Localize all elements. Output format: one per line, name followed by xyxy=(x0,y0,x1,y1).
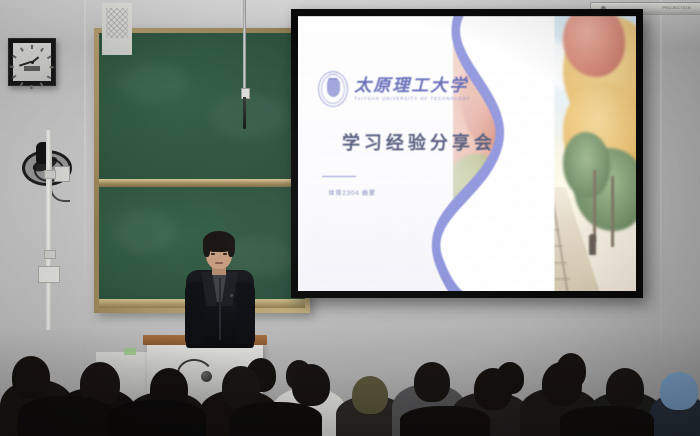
audience-shoulders xyxy=(400,406,490,436)
presenter-hair-side xyxy=(203,240,210,257)
clock-tick xyxy=(47,56,51,59)
classroom-scene: PROJECTION xyxy=(0,0,700,436)
slide-divider-rule xyxy=(322,176,356,178)
clock-tick xyxy=(20,48,23,52)
clock-brand-label xyxy=(24,66,41,71)
presentation-slide: TYUT 太原理工大学 TAIYUAN UNIVERSITY OF TECHNO… xyxy=(298,16,636,291)
audience-head xyxy=(542,362,582,406)
clock-tick xyxy=(50,67,54,69)
clock-center-pin xyxy=(31,61,34,64)
audience-head xyxy=(474,368,512,410)
blackboard-center-rail xyxy=(99,179,305,187)
clock-tick xyxy=(31,45,33,49)
chalk-smudge xyxy=(119,63,189,103)
presenter-eye xyxy=(223,253,227,255)
presenter-eye xyxy=(211,253,215,255)
slide-byline: 体育2304 曲蒙 xyxy=(328,188,375,197)
audience xyxy=(0,326,700,436)
university-logo: TYUT 太原理工大学 TAIYUAN UNIVERSITY OF TECHNO… xyxy=(318,71,471,107)
microphone-icon xyxy=(243,97,246,129)
conduit-band xyxy=(44,170,56,179)
presenter-mouth xyxy=(215,262,223,264)
presenter-hair-side xyxy=(228,240,235,257)
logo-chinese-name: 太原理工大学 xyxy=(354,78,471,95)
audience-head xyxy=(606,368,644,410)
audience-head xyxy=(414,362,450,402)
conduit-band xyxy=(44,250,56,259)
clock-tick xyxy=(13,56,17,59)
emblem-shield xyxy=(327,80,340,97)
university-emblem-icon: TYUT xyxy=(318,71,348,107)
blackboard-panel-top xyxy=(99,33,305,181)
clock-tick xyxy=(40,48,43,52)
audience-head xyxy=(12,356,50,398)
audience-shoulders xyxy=(108,400,206,436)
clock-face xyxy=(13,43,51,81)
roller-label: PROJECTION xyxy=(662,5,691,10)
audience-shoulders xyxy=(560,406,654,436)
audience-head xyxy=(292,364,330,406)
wall-socket[interactable] xyxy=(38,266,60,283)
projection-surface: TYUT 太原理工大学 TAIYUAN UNIVERSITY OF TECHNO… xyxy=(298,16,636,291)
speaker-grill xyxy=(106,8,128,38)
projection-screen: TYUT 太原理工大学 TAIYUAN UNIVERSITY OF TECHNO… xyxy=(291,9,643,298)
wall-conduit xyxy=(46,130,52,330)
clock-tick xyxy=(47,76,51,79)
logo-wordmark: 太原理工大学 TAIYUAN UNIVERSITY OF TECHNOLOGY xyxy=(354,78,471,101)
chalk-smudge xyxy=(113,209,177,253)
clock-tick xyxy=(10,67,14,69)
emblem-label: TYUT xyxy=(318,72,348,76)
audience-shoulders xyxy=(230,402,322,436)
audience-head xyxy=(222,366,260,408)
wall-clock xyxy=(8,38,56,86)
presenter-jacket-button xyxy=(230,294,233,297)
chalk-smudge xyxy=(209,93,289,139)
audience-cap-icon xyxy=(660,372,698,410)
microphone-cable xyxy=(243,0,246,92)
clock-tick xyxy=(13,76,17,79)
audience-head xyxy=(352,376,388,414)
audience-shoulders xyxy=(18,396,114,436)
slide-title: 学习经验分享会 xyxy=(342,129,496,155)
logo-english-name: TAIYUAN UNIVERSITY OF TECHNOLOGY xyxy=(354,96,471,101)
